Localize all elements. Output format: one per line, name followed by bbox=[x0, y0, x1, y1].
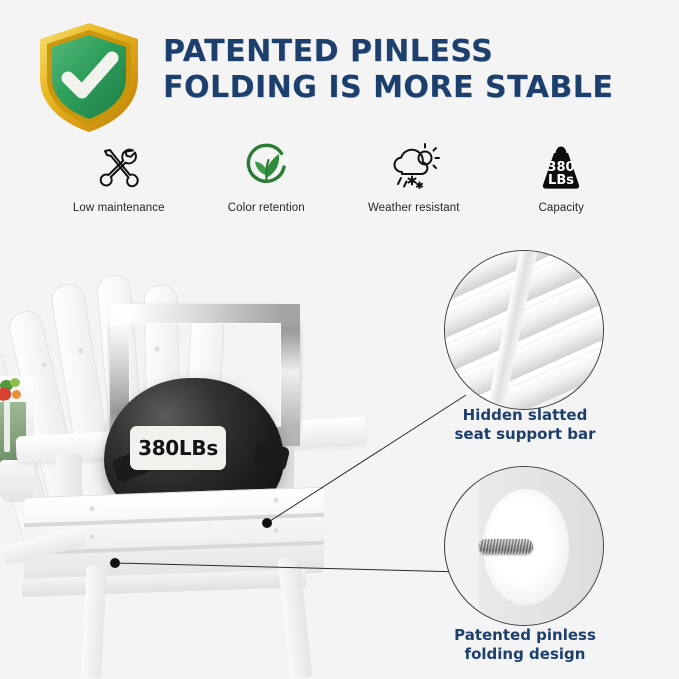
screwdriver-wrench-icon bbox=[94, 140, 144, 194]
callout-patented-pinless-folding-design bbox=[444, 466, 604, 626]
feature-label: Color retention bbox=[228, 202, 305, 214]
weight-icon: 380 LBs bbox=[534, 140, 588, 194]
shield-check-icon bbox=[28, 16, 150, 138]
feature-color-retention: Color retention bbox=[193, 140, 341, 214]
cup-holder bbox=[0, 460, 34, 502]
cloud-sun-rain-snow-icon bbox=[388, 140, 440, 194]
kettlebell-weight-value: 380LBs bbox=[138, 436, 218, 460]
callout-caption-2: Patented pinless folding design bbox=[420, 626, 630, 664]
headline-line-2: FOLDING IS MORE STABLE bbox=[163, 70, 663, 106]
page-title: PATENTED PINLESS FOLDING IS MORE STABLE bbox=[163, 34, 663, 106]
kettlebell-shoulder-right bbox=[252, 440, 291, 472]
header-band: PATENTED PINLESS FOLDING IS MORE STABLE bbox=[0, 0, 679, 135]
feature-low-maintenance: Low maintenance bbox=[45, 140, 193, 214]
feature-label: Low maintenance bbox=[73, 202, 165, 214]
chair-leg-front-right bbox=[278, 557, 312, 679]
feature-capacity: 380 LBs Capacity bbox=[488, 140, 636, 214]
feature-label: Capacity bbox=[538, 202, 584, 214]
feature-label: Weather resistant bbox=[368, 202, 460, 214]
weight-badge-unit: LBs bbox=[548, 173, 574, 188]
threaded-bolt-icon bbox=[479, 539, 533, 554]
product-infographic: PATENTED PINLESS FOLDING IS MORE STABLE … bbox=[0, 0, 679, 679]
leaf-circle-icon bbox=[241, 140, 291, 194]
callout-caption-1: Hidden slatted seat support bar bbox=[420, 406, 630, 444]
kettlebell-weight-label: 380LBs bbox=[130, 426, 226, 470]
headline-line-1: PATENTED PINLESS bbox=[163, 34, 663, 70]
feature-row: Low maintenance Color retention bbox=[45, 140, 635, 225]
callout-hidden-slatted-seat-support-bar bbox=[444, 250, 604, 410]
feature-weather-resistant: Weather resistant bbox=[340, 140, 488, 214]
